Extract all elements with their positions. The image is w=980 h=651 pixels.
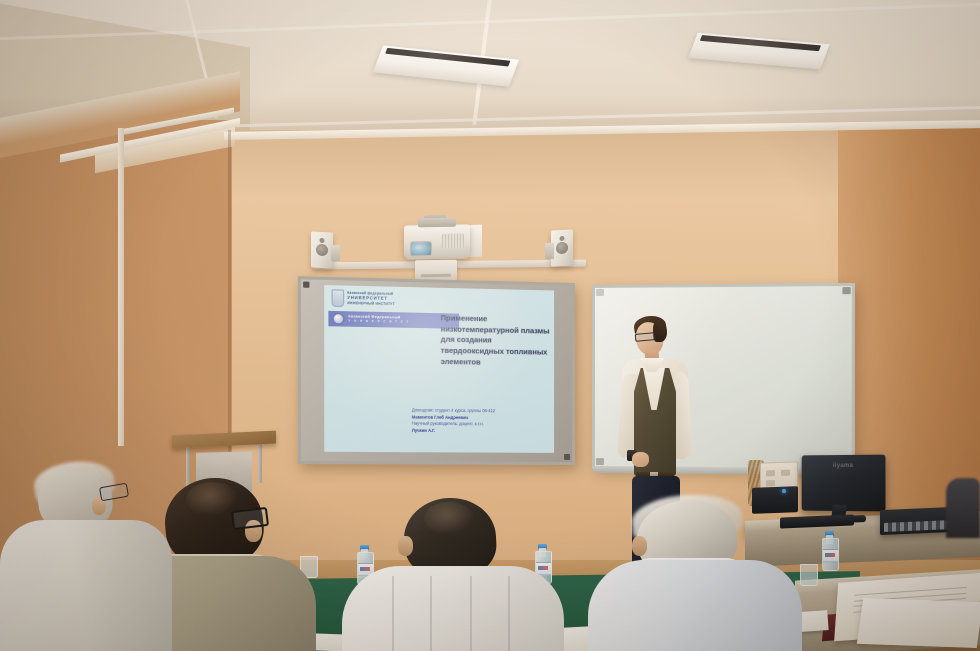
lecture-room-photo: Казанский федеральный УНИВЕРСИТЕТ ИНЖЕНЕ… [0,0,980,651]
speaker-tweeter [320,238,325,243]
ceiling-mounted-projector [404,224,470,259]
university-emblem-icon [333,313,345,325]
wallplate-switch[interactable] [766,480,775,486]
presentation-slide: Казанский федеральный УНИВЕРСИТЕТ ИНЖЕНЕ… [324,285,554,453]
audience-torso [588,560,802,651]
slide-title: Применение низкотемпературной плазмы для… [441,313,550,369]
projector-vent [442,234,464,248]
audience-scalp-highlight [424,502,474,534]
monitor-brand-label: iiyama [833,463,854,469]
university-logo-top: Казанский федеральный УНИВЕРСИТЕТ ИНЖЕНЕ… [332,289,395,308]
university-brand-band: Казанский Федеральный У Н И В Е Р С И Т … [328,311,459,329]
audience-ear [398,536,413,556]
cable-conduit-vertical [118,128,124,446]
shirt-fold [470,576,472,651]
audience-torso [342,566,564,651]
computer-monitor: iiyama [802,455,886,512]
projector-top-plate [418,218,456,228]
slide-credits: Докладчик: студент 4 курса, группы 06-41… [412,407,546,434]
background-figure [946,478,980,538]
shirt-fold [392,576,394,651]
university-logo-top-text: Казанский федеральный УНИВЕРСИТЕТ ИНЖЕНЕ… [347,292,394,306]
bottle-label [823,549,838,562]
speaker-bracket [545,243,554,259]
desk-speaker [752,486,798,514]
wallplate-switch[interactable] [781,470,790,476]
shirt-fold [508,576,510,651]
audience-torso-shading [0,520,172,651]
wall-speaker-left [311,231,333,268]
whiteboard-corner [596,458,604,465]
wall-speaker-right [551,229,573,266]
audience-ear [632,536,647,556]
whiteboard-corner [842,287,850,294]
audience-scalp-highlight [186,482,238,516]
shield-icon [332,289,345,307]
brand-line-2: У Н И В Е Р С И Т Е Т [348,320,409,324]
whiteboard-corner [596,289,604,296]
speaker-cone [316,244,328,257]
power-led-indicator [782,489,786,493]
shirt-fold [430,576,432,651]
paper-stack [857,598,980,648]
bottle-body [822,538,839,571]
wallplate-switch[interactable] [766,470,775,476]
speaker-cone [556,242,568,255]
credit-advisor-name: Лучкин А.Г. [412,428,546,435]
logo-line-3: ИНЖЕНЕРНЫЙ ИНСТИТУТ [347,302,394,306]
projection-board: Казанский федеральный УНИВЕРСИТЕТ ИНЖЕНЕ… [298,276,575,465]
brand-band-text: Казанский Федеральный У Н И В Е Р С И Т … [348,315,409,324]
lectern-leg [258,439,262,483]
control-box-slot [421,274,451,277]
presenter-hand [632,452,649,467]
water-bottle [822,531,837,571]
speaker-bracket [331,245,340,261]
drinking-glass [800,564,818,586]
speaker-tweeter [560,236,565,241]
projector-lens [410,241,432,256]
lectern-leg [186,443,190,487]
